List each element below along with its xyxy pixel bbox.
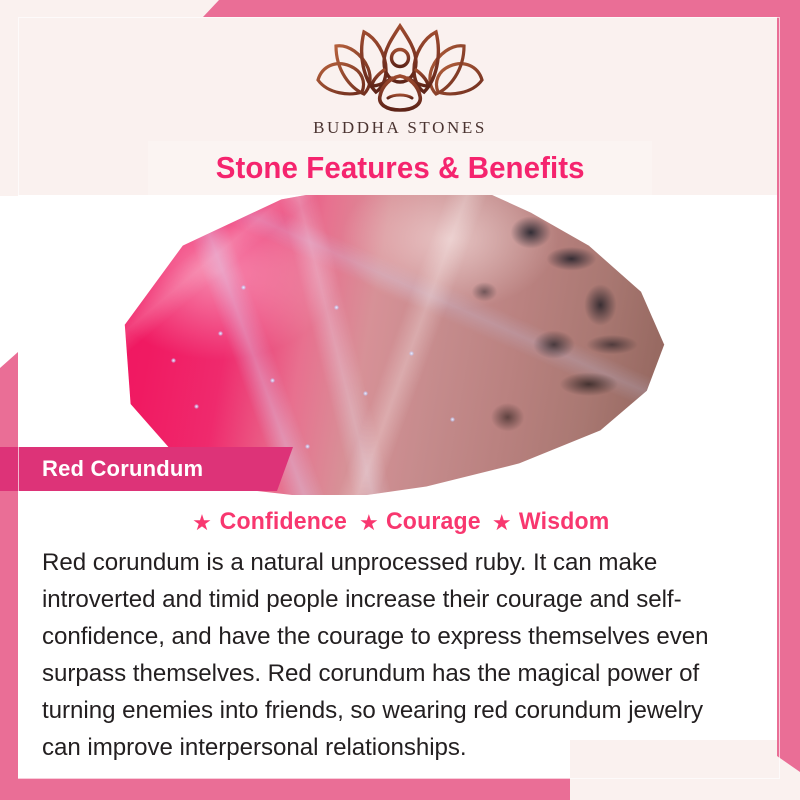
stone-name: Red Corundum [42, 456, 203, 482]
star-icon: ★ [192, 510, 212, 535]
stone-sparkle [241, 285, 246, 290]
frame-right-band [777, 0, 800, 772]
stone-sparkle [171, 358, 176, 363]
stone-sparkle [334, 305, 339, 310]
section-title-band: Stone Features & Benefits [148, 141, 652, 195]
lotus-meditation-icon [302, 20, 498, 116]
page-title: Stone Features & Benefits [216, 150, 585, 186]
stone-sparkle [363, 391, 368, 396]
benefit-courage: Courage [386, 508, 481, 536]
stone-sparkle [450, 417, 455, 422]
frame-left-band [0, 352, 18, 800]
stone-name-banner: Red Corundum [0, 447, 293, 491]
star-icon: ★ [359, 510, 379, 535]
benefits-row: ★Confidence ★Courage ★Wisdom [18, 508, 780, 536]
stone-description: Red corundum is a natural unprocessed ru… [42, 544, 743, 766]
benefit-confidence: Confidence [219, 508, 346, 536]
frame-bottom-right-notch [570, 778, 800, 800]
benefit-wisdom: Wisdom [518, 508, 609, 536]
stone-sparkle [305, 444, 310, 449]
star-icon: ★ [492, 510, 512, 535]
stone-info-card: BUDDHA STONES Stone Features & Benefits [0, 0, 800, 800]
stone-sparkle [270, 378, 275, 383]
brand-logo: BUDDHA STONES [0, 20, 800, 138]
brand-name: BUDDHA STONES [0, 118, 800, 138]
